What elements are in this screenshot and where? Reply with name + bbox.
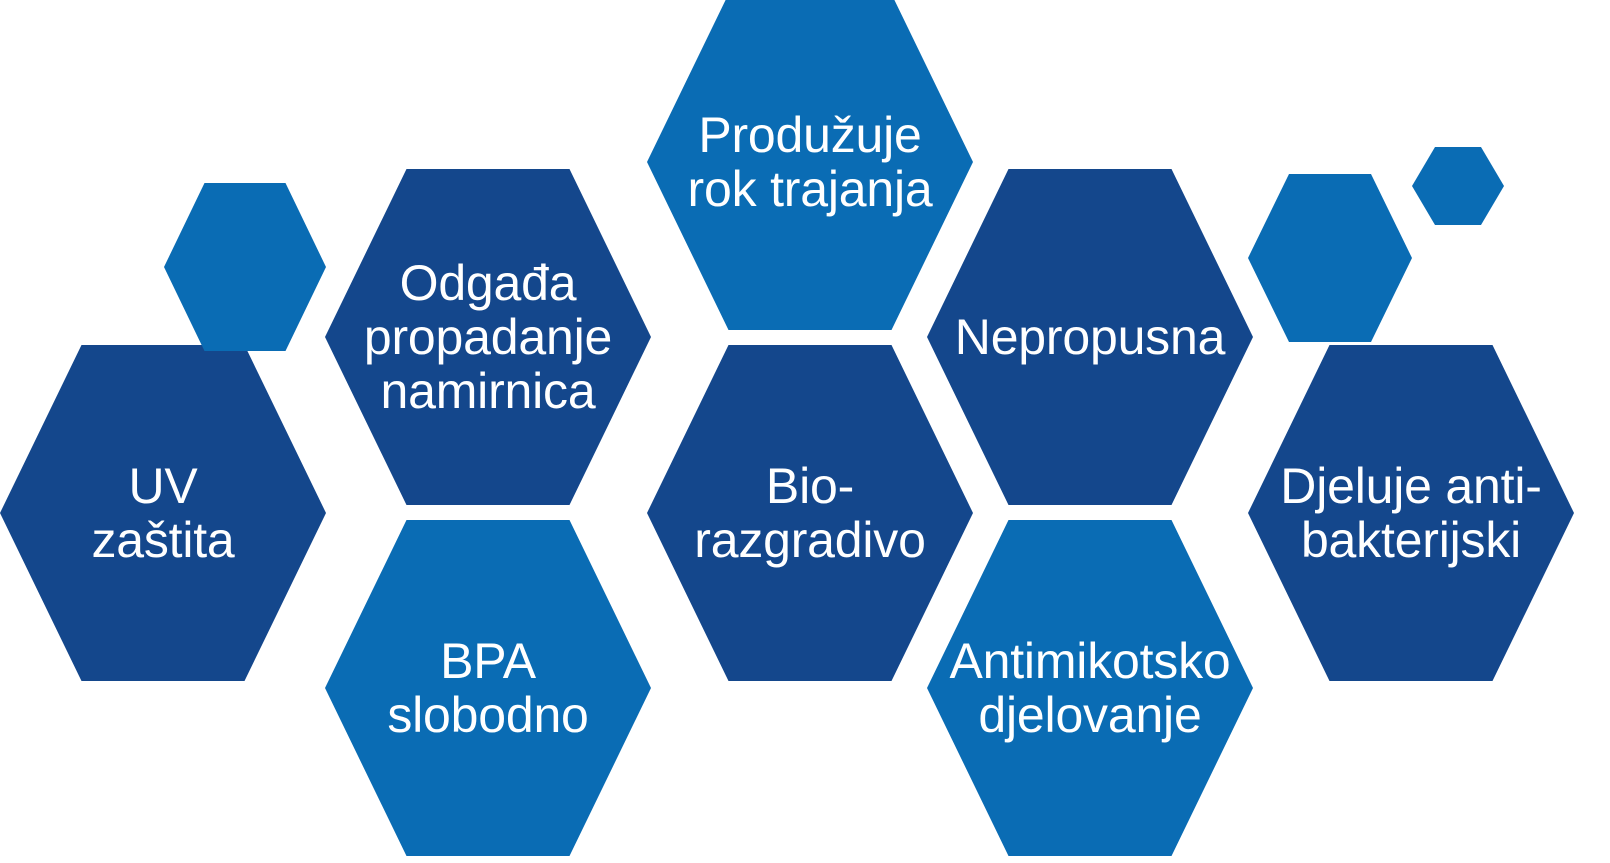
- hexagon-diagram-canvas: UV zaštitaOdgađa propadanje namirnicaBPA…: [0, 0, 1610, 863]
- hexagon-label: Antimikotsko djelovanje: [943, 634, 1236, 742]
- decorative-hexagon-decor-top-left: [164, 183, 326, 351]
- hexagon-label: Produžuje rok trajanja: [682, 108, 939, 216]
- hexagon-label: Bio- razgradivo: [688, 459, 931, 567]
- hexagon-label: BPA slobodno: [381, 634, 594, 742]
- hexagon-produzuje-rok-trajanja[interactable]: Produžuje rok trajanja: [647, 0, 973, 330]
- hexagon-uv-zastita[interactable]: UV zaštita: [0, 345, 326, 681]
- decorative-hexagon-decor-top-right-large: [1248, 174, 1412, 342]
- hexagon-label: Nepropusna: [949, 310, 1231, 364]
- hexagon-djeluje-anti-bakterijski[interactable]: Djeluje anti- bakterijski: [1248, 345, 1574, 681]
- hexagon-nepropusna[interactable]: Nepropusna: [927, 169, 1253, 505]
- hexagon-bio-razgradivo[interactable]: Bio- razgradivo: [647, 345, 973, 681]
- hexagon-label: Odgađa propadanje namirnica: [358, 256, 618, 418]
- decorative-hexagon-decor-top-right-small: [1412, 147, 1504, 225]
- hexagon-antimikotsko-djelovanje[interactable]: Antimikotsko djelovanje: [927, 520, 1253, 856]
- hexagon-label: Djeluje anti- bakterijski: [1274, 459, 1547, 567]
- hexagon-bpa-slobodno[interactable]: BPA slobodno: [325, 520, 651, 856]
- hexagon-odgada-propadanje-namirnica[interactable]: Odgađa propadanje namirnica: [325, 169, 651, 505]
- hexagon-label: UV zaštita: [85, 459, 240, 567]
